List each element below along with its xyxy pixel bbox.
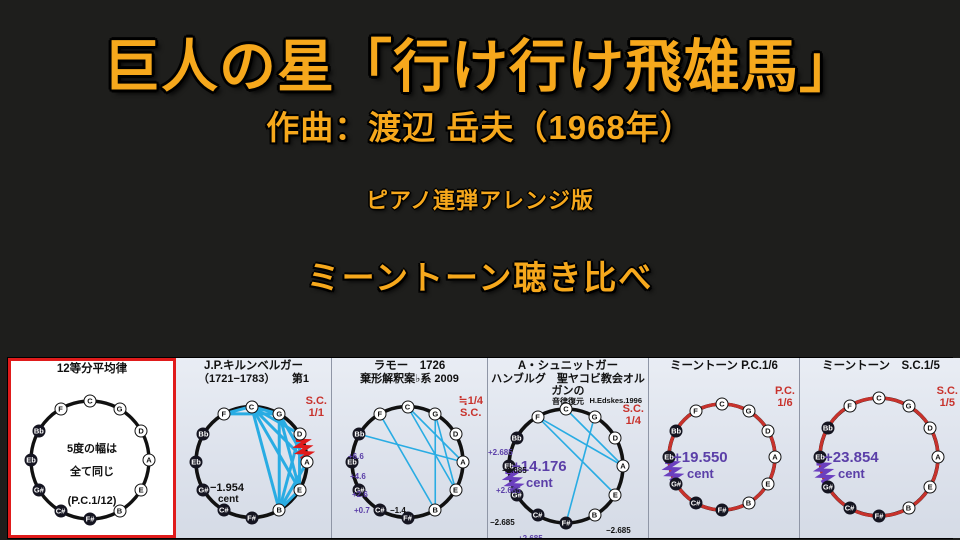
note-bubble-Csharp[interactable]: C# <box>689 496 702 509</box>
cent-deviation-value: +23.854cent <box>824 449 879 481</box>
note-bubble-G[interactable]: G <box>113 402 126 415</box>
interval-deviation-value: +2.685 <box>518 534 543 538</box>
note-bubble-Csharp[interactable]: C# <box>531 509 544 522</box>
panel-center-line: (P.C.1/12) <box>11 494 173 509</box>
page-title: 巨人の星「行け行け飛雄馬」 <box>0 38 960 97</box>
temperament-fraction-tag: S.C.1/1 <box>306 396 327 419</box>
note-bubble-D[interactable]: D <box>761 424 774 437</box>
note-bubble-Csharp[interactable]: C# <box>373 504 386 517</box>
note-bubble-E[interactable]: E <box>449 483 462 496</box>
note-bubble-F[interactable]: F <box>373 407 386 420</box>
note-bubble-G[interactable]: G <box>273 407 286 420</box>
note-bubble-F[interactable]: F <box>217 407 230 420</box>
note-bubble-E[interactable]: E <box>761 477 774 490</box>
cent-number: −1.954 <box>210 482 244 494</box>
note-bubble-B[interactable]: B <box>588 509 601 522</box>
panel-center-text: 5度の幅は全て同じ(P.C.1/12) <box>11 434 173 509</box>
interval-deviation-value: +2.685 <box>488 448 513 457</box>
panel-center-line: 5度の幅は <box>11 442 173 457</box>
note-bubble-E[interactable]: E <box>293 483 306 496</box>
interval-deviation-value: −1.4 <box>390 506 406 515</box>
temperament-panel-rameau-1726[interactable]: ラモー 1726棄形解釈案♭系 2009CGDAEBF#C#G#EbBbF≒1/… <box>332 358 488 538</box>
note-bubble-F[interactable]: F <box>689 405 702 418</box>
cent-number: +23.854 <box>824 449 879 466</box>
note-bubble-Fsharp[interactable]: F# <box>84 513 97 526</box>
note-bubble-Csharp[interactable]: C# <box>843 502 856 515</box>
interval-deviation-value: +2.685 <box>496 486 521 495</box>
fraction-tag-line: P.C. <box>775 386 795 398</box>
composer-line: 作曲：渡辺 岳夫（1968年） <box>0 101 960 149</box>
note-bubble-Fsharp[interactable]: F# <box>560 517 573 530</box>
temperament-fraction-tag: P.C.1/6 <box>775 386 795 409</box>
panel-credit: H.Edskes.1996 <box>589 396 642 405</box>
note-bubble-C[interactable]: C <box>873 392 886 405</box>
fraction-tag-line: S.C. <box>623 404 644 416</box>
fraction-tag-line: S.C. <box>458 408 483 420</box>
fraction-tag-line: S.C. <box>937 386 958 398</box>
fraction-tag-line: 1/5 <box>937 398 958 410</box>
temperament-panel-equal-temperament[interactable]: 12等分平均律CGDAEBF#C#G#EbBbF5度の幅は全て同じ(P.C.1/… <box>8 358 176 538</box>
note-bubble-Csharp[interactable]: C# <box>217 504 230 517</box>
temperament-panel-meantone-sc-1-5[interactable]: ミーントーン S.C.1/5CGDAEBF#C#G#EbBbFS.C.1/5+2… <box>800 358 960 538</box>
note-bubble-E[interactable]: E <box>924 480 937 493</box>
arrangement-label: ピアノ連弾アレンジ版 <box>0 183 960 215</box>
note-bubble-Gsharp[interactable]: G# <box>197 483 210 496</box>
note-bubble-A[interactable]: A <box>457 456 470 469</box>
temperament-fraction-tag: S.C.1/4 <box>623 404 644 427</box>
fraction-tag-line: 1/1 <box>306 408 327 420</box>
interval-deviation-value: +6.6 <box>348 452 364 461</box>
note-bubble-F[interactable]: F <box>54 402 67 415</box>
note-bubble-Bflat[interactable]: Bb <box>510 431 523 444</box>
note-bubble-Bflat[interactable]: Bb <box>821 421 834 434</box>
note-bubble-G[interactable]: G <box>429 407 442 420</box>
cent-deviation-value: −1.954cent <box>210 482 244 505</box>
temperament-panel-schnitger[interactable]: A・シュニットガーハンブルグ 聖ヤコビ教会オルガンの音律復元CGDAEBF#C#… <box>488 358 649 538</box>
cent-unit: cent <box>218 494 244 505</box>
interval-deviation-value: −2.685 <box>502 466 527 475</box>
note-bubble-B[interactable]: B <box>742 496 755 509</box>
temperament-filmstrip: 12等分平均律CGDAEBF#C#G#EbBbF5度の幅は全て同じ(P.C.1/… <box>8 358 952 538</box>
note-bubble-B[interactable]: B <box>429 504 442 517</box>
note-bubble-C[interactable]: C <box>560 403 573 416</box>
note-bubble-A[interactable]: A <box>301 456 314 469</box>
note-bubble-Bflat[interactable]: Bb <box>353 428 366 441</box>
note-bubble-Bflat[interactable]: Bb <box>197 428 210 441</box>
note-bubble-Fsharp[interactable]: F# <box>716 504 729 517</box>
note-bubble-F[interactable]: F <box>843 399 856 412</box>
note-bubble-B[interactable]: B <box>902 502 915 515</box>
note-bubble-D[interactable]: D <box>449 428 462 441</box>
cent-unit: cent <box>687 466 728 481</box>
interval-deviation-value: +4.6 <box>350 472 366 481</box>
cent-deviation-value: +19.550cent <box>673 449 728 481</box>
interval-deviation-value: +0.7 <box>354 506 370 515</box>
note-bubble-F[interactable]: F <box>531 410 544 423</box>
note-bubble-Bflat[interactable]: Bb <box>670 424 683 437</box>
temperament-fraction-tag: ≒1/4S.C. <box>458 396 483 419</box>
note-bubble-B[interactable]: B <box>273 504 286 517</box>
note-bubble-C[interactable]: C <box>84 395 97 408</box>
note-bubble-Gsharp[interactable]: G# <box>821 480 834 493</box>
fraction-tag-line: S.C. <box>306 396 327 408</box>
temperament-panel-meantone-pc-1-6[interactable]: ミーントーン P.C.1/6CGDAEBF#C#G#EbBbFP.C.1/6+1… <box>649 358 800 538</box>
note-bubble-A[interactable]: A <box>617 460 630 473</box>
note-bubble-G[interactable]: G <box>588 410 601 423</box>
title-block: 巨人の星「行け行け飛雄馬」 作曲：渡辺 岳夫（1968年） ピアノ連弾アレンジ版… <box>0 0 960 299</box>
fraction-tag-line: 1/4 <box>623 416 644 428</box>
interval-deviation-value: −2.685 <box>490 518 515 527</box>
temperament-fraction-tag: S.C.1/5 <box>937 386 958 409</box>
note-bubble-E[interactable]: E <box>609 488 622 501</box>
note-bubble-C[interactable]: C <box>401 400 414 413</box>
note-bubble-D[interactable]: D <box>609 431 622 444</box>
fraction-tag-line: 1/6 <box>775 398 795 410</box>
note-bubble-C[interactable]: C <box>245 400 258 413</box>
note-bubble-G[interactable]: G <box>742 405 755 418</box>
cent-unit: cent <box>526 475 567 490</box>
interval-deviation-value: −2.685 <box>606 526 631 535</box>
cent-number: +19.550 <box>673 449 728 466</box>
note-bubble-Eflat[interactable]: Eb <box>190 456 203 469</box>
note-bubble-Fsharp[interactable]: F# <box>245 511 258 524</box>
note-bubble-Fsharp[interactable]: F# <box>873 510 886 523</box>
topic-label: ミーントーン聴き比べ <box>0 251 960 299</box>
note-bubble-A[interactable]: A <box>769 451 782 464</box>
note-bubble-A[interactable]: A <box>932 451 945 464</box>
temperament-panel-kirnberger-1[interactable]: J.P.キルンベルガー（1721−1783） 第1CGDAEBF#C#G#EbB… <box>176 358 332 538</box>
note-bubble-G[interactable]: G <box>902 399 915 412</box>
cent-unit: cent <box>838 466 879 481</box>
fraction-tag-line: ≒1/4 <box>458 396 483 408</box>
interval-deviation-value: +2.6 <box>352 490 368 499</box>
panel-center-line: 全て同じ <box>11 465 173 480</box>
note-bubble-C[interactable]: C <box>716 398 729 411</box>
note-bubble-D[interactable]: D <box>293 428 306 441</box>
note-bubble-D[interactable]: D <box>924 421 937 434</box>
